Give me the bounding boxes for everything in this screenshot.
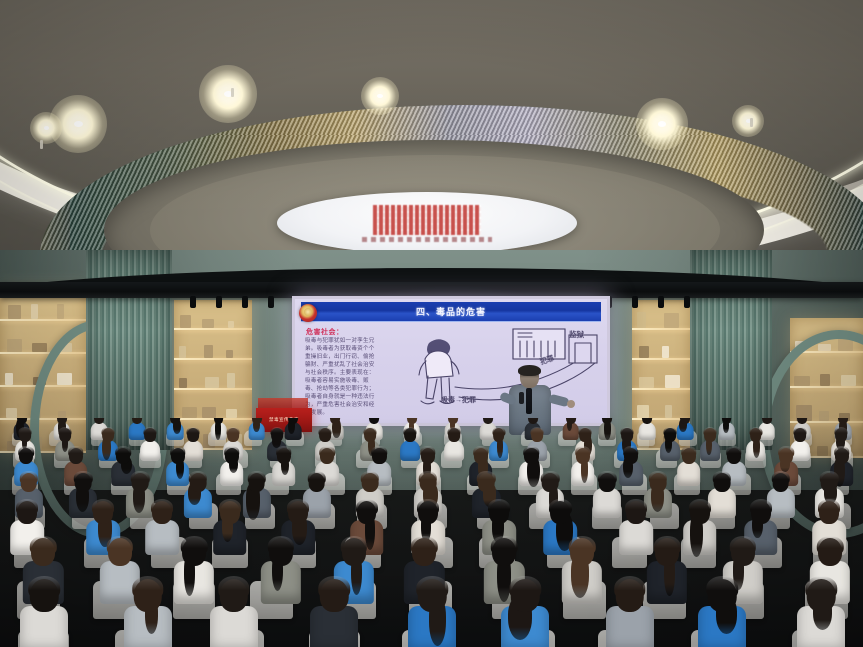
audience-member-hair bbox=[319, 427, 332, 437]
audience-member-hair bbox=[531, 427, 544, 437]
audience-member-hair bbox=[654, 536, 680, 556]
audience-member-hair bbox=[271, 427, 284, 437]
audience-member-hair bbox=[726, 446, 742, 458]
audience-member-hair bbox=[420, 446, 436, 458]
audience-member-hair bbox=[132, 576, 164, 600]
audience-member-hair bbox=[187, 427, 200, 437]
audience-member-hair bbox=[247, 471, 265, 485]
audience-member-hair bbox=[58, 427, 71, 437]
audience-member-hair bbox=[340, 536, 366, 556]
book-item bbox=[5, 373, 13, 385]
ceiling-downlight-core bbox=[44, 126, 49, 130]
audience-member-torso bbox=[210, 606, 258, 647]
shelf-row bbox=[174, 388, 252, 390]
audience-member-hair bbox=[750, 499, 772, 516]
audience-member-hair bbox=[268, 536, 294, 556]
audience-member-hair bbox=[834, 446, 850, 458]
audience-member-hair bbox=[18, 427, 31, 437]
track-light-head bbox=[242, 296, 248, 308]
audience-member-hair bbox=[818, 499, 840, 516]
audience-member-torso bbox=[140, 440, 160, 461]
red-seal-logo bbox=[373, 205, 481, 235]
book-item bbox=[639, 346, 649, 358]
book-item bbox=[204, 345, 213, 358]
audience-member-hair bbox=[621, 427, 634, 437]
audience-member-hair bbox=[447, 427, 460, 437]
audience-member-hair bbox=[30, 536, 56, 556]
audience-member-hair bbox=[170, 446, 186, 458]
audience-member bbox=[495, 573, 555, 647]
audience-member bbox=[791, 573, 851, 647]
audience-member-hair bbox=[491, 536, 517, 556]
audience-member-hair bbox=[417, 499, 439, 516]
audience-member-torso bbox=[606, 606, 654, 647]
audience-member-hair bbox=[276, 446, 292, 458]
book-item bbox=[637, 405, 649, 418]
audience-member bbox=[204, 573, 264, 647]
audience-member-hair bbox=[689, 499, 711, 516]
presenter-necktie bbox=[526, 388, 532, 414]
presenter-hair bbox=[518, 365, 541, 376]
audience-member-hair bbox=[793, 427, 806, 437]
audience-member-hair bbox=[19, 471, 37, 485]
shelf-row bbox=[632, 358, 690, 360]
shelf-row bbox=[174, 358, 252, 360]
book-item bbox=[665, 375, 680, 388]
book-item bbox=[227, 373, 235, 388]
audience-member-hair bbox=[713, 471, 731, 485]
audience-member-hair bbox=[116, 446, 132, 458]
audience-member-hair bbox=[820, 471, 838, 485]
audience-member-hair bbox=[805, 576, 837, 600]
audience-member-hair bbox=[102, 427, 115, 437]
audience-member-hair bbox=[681, 446, 697, 458]
audience-member bbox=[692, 573, 752, 647]
audience-member-hair bbox=[575, 446, 591, 458]
book-item bbox=[226, 350, 232, 358]
audience-member-torso bbox=[639, 422, 656, 440]
audience-member-hair bbox=[106, 536, 132, 556]
audience-member-hair bbox=[778, 446, 794, 458]
audience-member bbox=[637, 418, 658, 441]
audience-member-hair bbox=[663, 427, 676, 437]
audience-member-hair bbox=[524, 446, 540, 458]
audience-member-hair bbox=[416, 576, 448, 600]
audience-member-hair bbox=[74, 471, 92, 485]
cartoon-label-prison: 监狱 bbox=[569, 329, 584, 340]
audience-member-hair bbox=[356, 499, 378, 516]
book-item bbox=[202, 407, 217, 418]
audience-member-hair bbox=[181, 536, 207, 556]
audience-member-hair bbox=[219, 499, 241, 516]
book-item bbox=[32, 343, 48, 352]
slide-text-heading: 危害社会： bbox=[306, 327, 344, 337]
audience-member-hair bbox=[625, 499, 647, 516]
audience-member-hair bbox=[227, 427, 240, 437]
logo-subtitle-text bbox=[362, 237, 492, 242]
audience-member-hair bbox=[92, 499, 114, 516]
audience-member-hair bbox=[473, 446, 489, 458]
slide-text-body: 吸毒与犯罪犹如一对孪生兄弟。吸毒者为获取毒资个个重操旧业，出门行窃、偷抢骗财、严… bbox=[305, 337, 377, 417]
lecture-hall-photo: 四、毒品的危害 危害社会： 吸毒与犯罪犹如一对孪生兄弟。吸毒者为获取毒资个个重操… bbox=[0, 0, 863, 647]
audience-member-hair bbox=[307, 471, 325, 485]
audience-member-hair bbox=[411, 536, 437, 556]
audience-member-torso bbox=[20, 606, 68, 647]
audience-member-hair bbox=[649, 471, 667, 485]
cartoon-label-drug-use: 吸毒→犯罪 bbox=[441, 395, 476, 405]
ceiling-fixture bbox=[750, 118, 753, 127]
audience-member-hair bbox=[404, 427, 417, 437]
book-item bbox=[226, 409, 237, 418]
audience-member-hair bbox=[771, 471, 789, 485]
audience-member-hair bbox=[569, 536, 595, 556]
audience-member bbox=[14, 573, 74, 647]
audience-member-hair bbox=[189, 471, 207, 485]
ceiling-downlight-core bbox=[74, 121, 83, 127]
track-light-head bbox=[268, 296, 274, 308]
audience-member-hair bbox=[131, 471, 149, 485]
audience-member-hair bbox=[68, 446, 84, 458]
book-item bbox=[179, 346, 186, 358]
audience-member-hair bbox=[598, 471, 616, 485]
audience-member-hair bbox=[492, 427, 505, 437]
presenter-right-hand bbox=[567, 400, 575, 408]
audience-member-hair bbox=[614, 576, 646, 600]
book-item bbox=[665, 405, 672, 418]
audience-member-hair bbox=[541, 471, 559, 485]
audience-member-hair bbox=[817, 536, 843, 556]
book-item bbox=[639, 377, 654, 388]
audience-member-torso bbox=[677, 461, 701, 486]
audience-member-hair bbox=[18, 446, 34, 458]
audience-member-hair bbox=[319, 576, 351, 600]
audience-member-torso bbox=[310, 606, 358, 647]
audience-member-hair bbox=[144, 427, 157, 437]
book-item bbox=[182, 407, 197, 418]
audience-member-hair bbox=[549, 499, 571, 516]
ceiling-logo-panel bbox=[277, 192, 577, 254]
slide-title: 四、毒品的危害 bbox=[416, 305, 486, 318]
audience-member-hair bbox=[361, 471, 379, 485]
ceiling-fixture bbox=[40, 140, 43, 149]
audience-member bbox=[674, 445, 704, 488]
track-light-head bbox=[632, 296, 638, 308]
audience-member-hair bbox=[16, 499, 38, 516]
audience-member-hair bbox=[287, 499, 309, 516]
audience-member bbox=[138, 426, 163, 462]
audience-member-hair bbox=[477, 471, 495, 485]
podium-top-panel bbox=[258, 398, 308, 408]
audience-member-hair bbox=[29, 576, 61, 600]
track-light-head bbox=[658, 296, 664, 308]
track-light-head bbox=[190, 296, 196, 308]
book-item bbox=[7, 339, 22, 352]
book-item bbox=[6, 408, 17, 418]
book-item bbox=[179, 378, 187, 388]
audience-member-hair bbox=[706, 576, 738, 600]
audience-member bbox=[442, 426, 467, 462]
audience-member-torso bbox=[444, 440, 464, 461]
audience-member-hair bbox=[579, 427, 592, 437]
audience-member-hair bbox=[372, 446, 388, 458]
audience-member bbox=[304, 573, 364, 647]
audience-member-hair bbox=[488, 499, 510, 516]
audience-member-hair bbox=[749, 427, 762, 437]
ceiling-fixture bbox=[231, 88, 234, 97]
audience-member-hair bbox=[730, 536, 756, 556]
audience-member bbox=[118, 573, 178, 647]
book-item bbox=[205, 377, 220, 388]
audience-member-hair bbox=[704, 427, 717, 437]
audience-member-hair bbox=[224, 446, 240, 458]
shelf-row bbox=[632, 388, 690, 390]
ceiling-downlight-core bbox=[658, 121, 666, 127]
track-light-head bbox=[216, 296, 222, 308]
audience-member-hair bbox=[623, 446, 639, 458]
audience-member-hair bbox=[510, 576, 542, 600]
audience-member-hair bbox=[319, 446, 335, 458]
audience bbox=[0, 418, 863, 647]
audience-member bbox=[600, 573, 660, 647]
audience-member-hair bbox=[834, 427, 847, 437]
microphone-icon bbox=[519, 392, 524, 404]
audience-member-hair bbox=[218, 576, 250, 600]
audience-member-hair bbox=[151, 499, 173, 516]
slide-header-bar: 四、毒品的危害 bbox=[301, 302, 601, 322]
audience-member bbox=[402, 573, 462, 647]
audience-member-hair bbox=[419, 471, 437, 485]
police-emblem-icon bbox=[299, 304, 317, 322]
book-item bbox=[662, 346, 669, 358]
track-light-head bbox=[684, 296, 690, 308]
audience-member-hair bbox=[364, 427, 377, 437]
